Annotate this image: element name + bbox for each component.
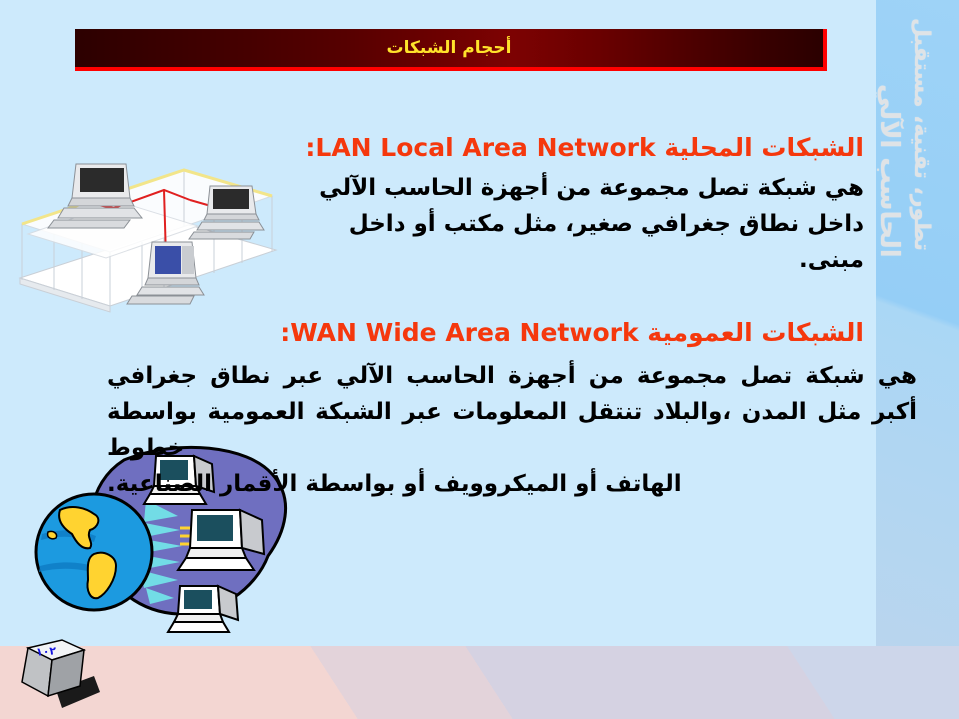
slide-title: أحجام الشبكات — [387, 38, 512, 58]
wan-body-line-1: هي شبكة تصل مجموعة من أجهزة الحاسب الآلي… — [107, 363, 917, 461]
lan-computer-1 — [48, 164, 142, 228]
lan-section-heading: الشبكات المحلية LAN Local Area Network: — [305, 133, 864, 162]
wan-section-body: هي شبكة تصل مجموعة من أجهزة الحاسب الآلي… — [107, 358, 917, 502]
slide-canvas: تطور، تقنية، مستقبل الحاسب الآلي أحجام ا… — [0, 0, 959, 719]
lan-section-body: هي شبكة تصل مجموعة من أجهزة الحاسب الآلي… — [304, 170, 864, 278]
sidebar-label-primary: تطور، تقنية، مستقبل — [909, 18, 934, 251]
slide-number-keycap — [16, 630, 120, 710]
sidebar-label-secondary: الحاسب الآلي — [876, 84, 904, 258]
sidebar-strip: تطور، تقنية، مستقبل الحاسب الآلي — [876, 0, 959, 646]
wan-body-line-2: الهاتف أو الميكروويف أو بواسطة الأقمار ا… — [107, 466, 917, 502]
sidebar-inner: تطور، تقنية، مستقبل الحاسب الآلي — [876, 0, 959, 646]
slide-number: ١٠٢ — [36, 644, 57, 658]
lan-illustration-svg — [14, 138, 282, 318]
wan-section-heading: الشبكات العمومية WAN Wide Area Network: — [280, 318, 864, 347]
slide-title-bar: أحجام الشبكات — [75, 29, 827, 71]
keycap-svg — [16, 630, 120, 710]
lan-building-illustration — [14, 138, 282, 318]
